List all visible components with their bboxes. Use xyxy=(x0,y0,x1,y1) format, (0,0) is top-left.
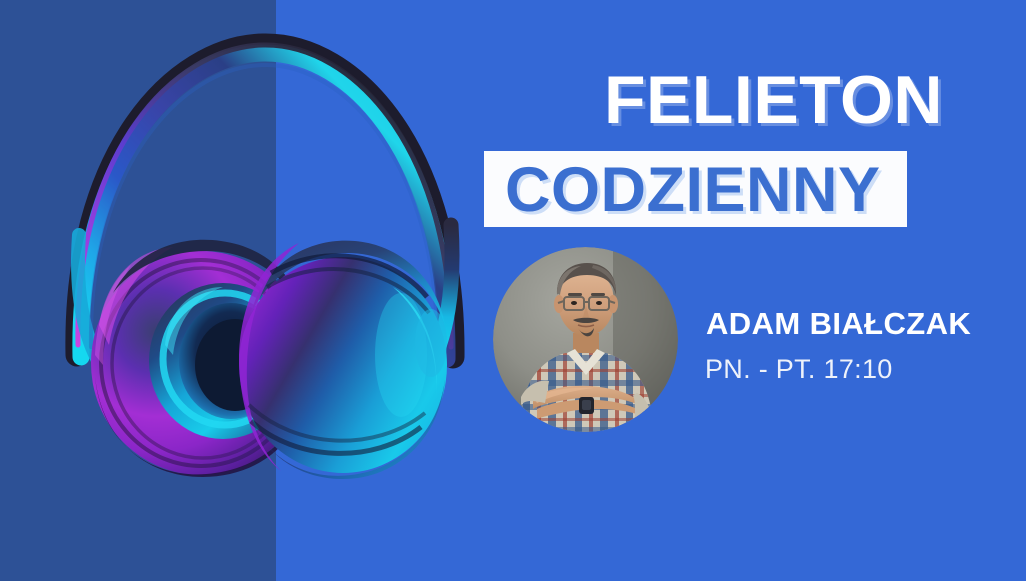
host-name: ADAM BIAŁCZAK xyxy=(706,306,971,342)
host-schedule: PN. - PT. 17:10 xyxy=(705,354,893,385)
broadcast-promo-graphic: FELIETON CODZIENNY xyxy=(0,0,1026,581)
host-portrait-avatar xyxy=(493,247,678,432)
headphones-3d-image xyxy=(55,25,475,495)
page-title-line2: CODZIENNY xyxy=(505,157,881,223)
page-title-line1: FELIETON xyxy=(604,66,943,134)
